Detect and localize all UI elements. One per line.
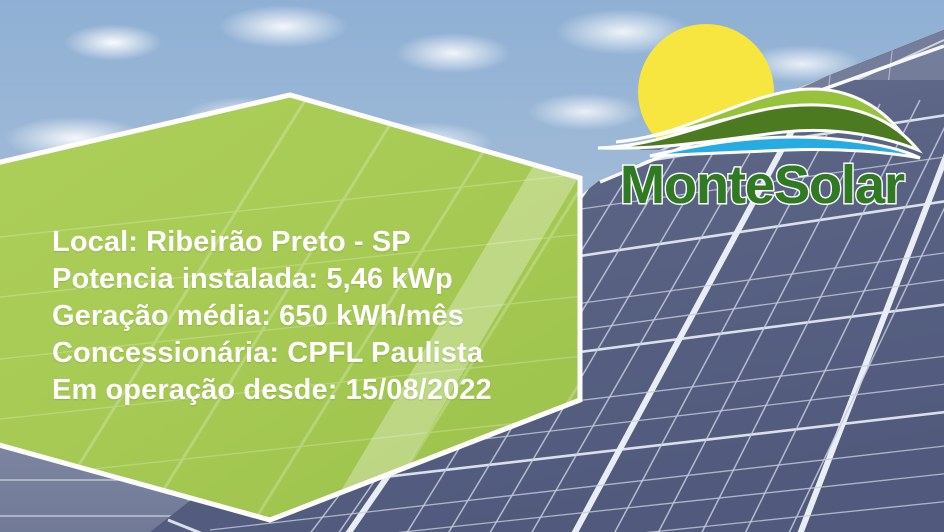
detail-concessionaria: Concessionária: CPFL Paulista	[52, 335, 552, 372]
detail-potencia: Potencia instalada: 5,46 kWp	[52, 261, 552, 298]
project-details-list: Local: Ribeirão Preto - SP Potencia inst…	[52, 224, 552, 409]
project-info-card: Local: Ribeirão Preto - SP Potencia inst…	[0, 0, 944, 532]
brand-wordmark: MonteSolar MonteSolar	[588, 156, 936, 214]
montesolar-logo: MonteSolar MonteSolar	[588, 14, 936, 204]
detail-geracao: Geração média: 650 kWh/mês	[52, 298, 552, 335]
sun-over-hills-logo-icon	[588, 14, 936, 164]
brand-wordmark-fill: MonteSolar	[588, 156, 936, 214]
detail-local: Local: Ribeirão Preto - SP	[52, 224, 552, 261]
detail-operacao: Em operação desde: 15/08/2022	[52, 372, 552, 409]
